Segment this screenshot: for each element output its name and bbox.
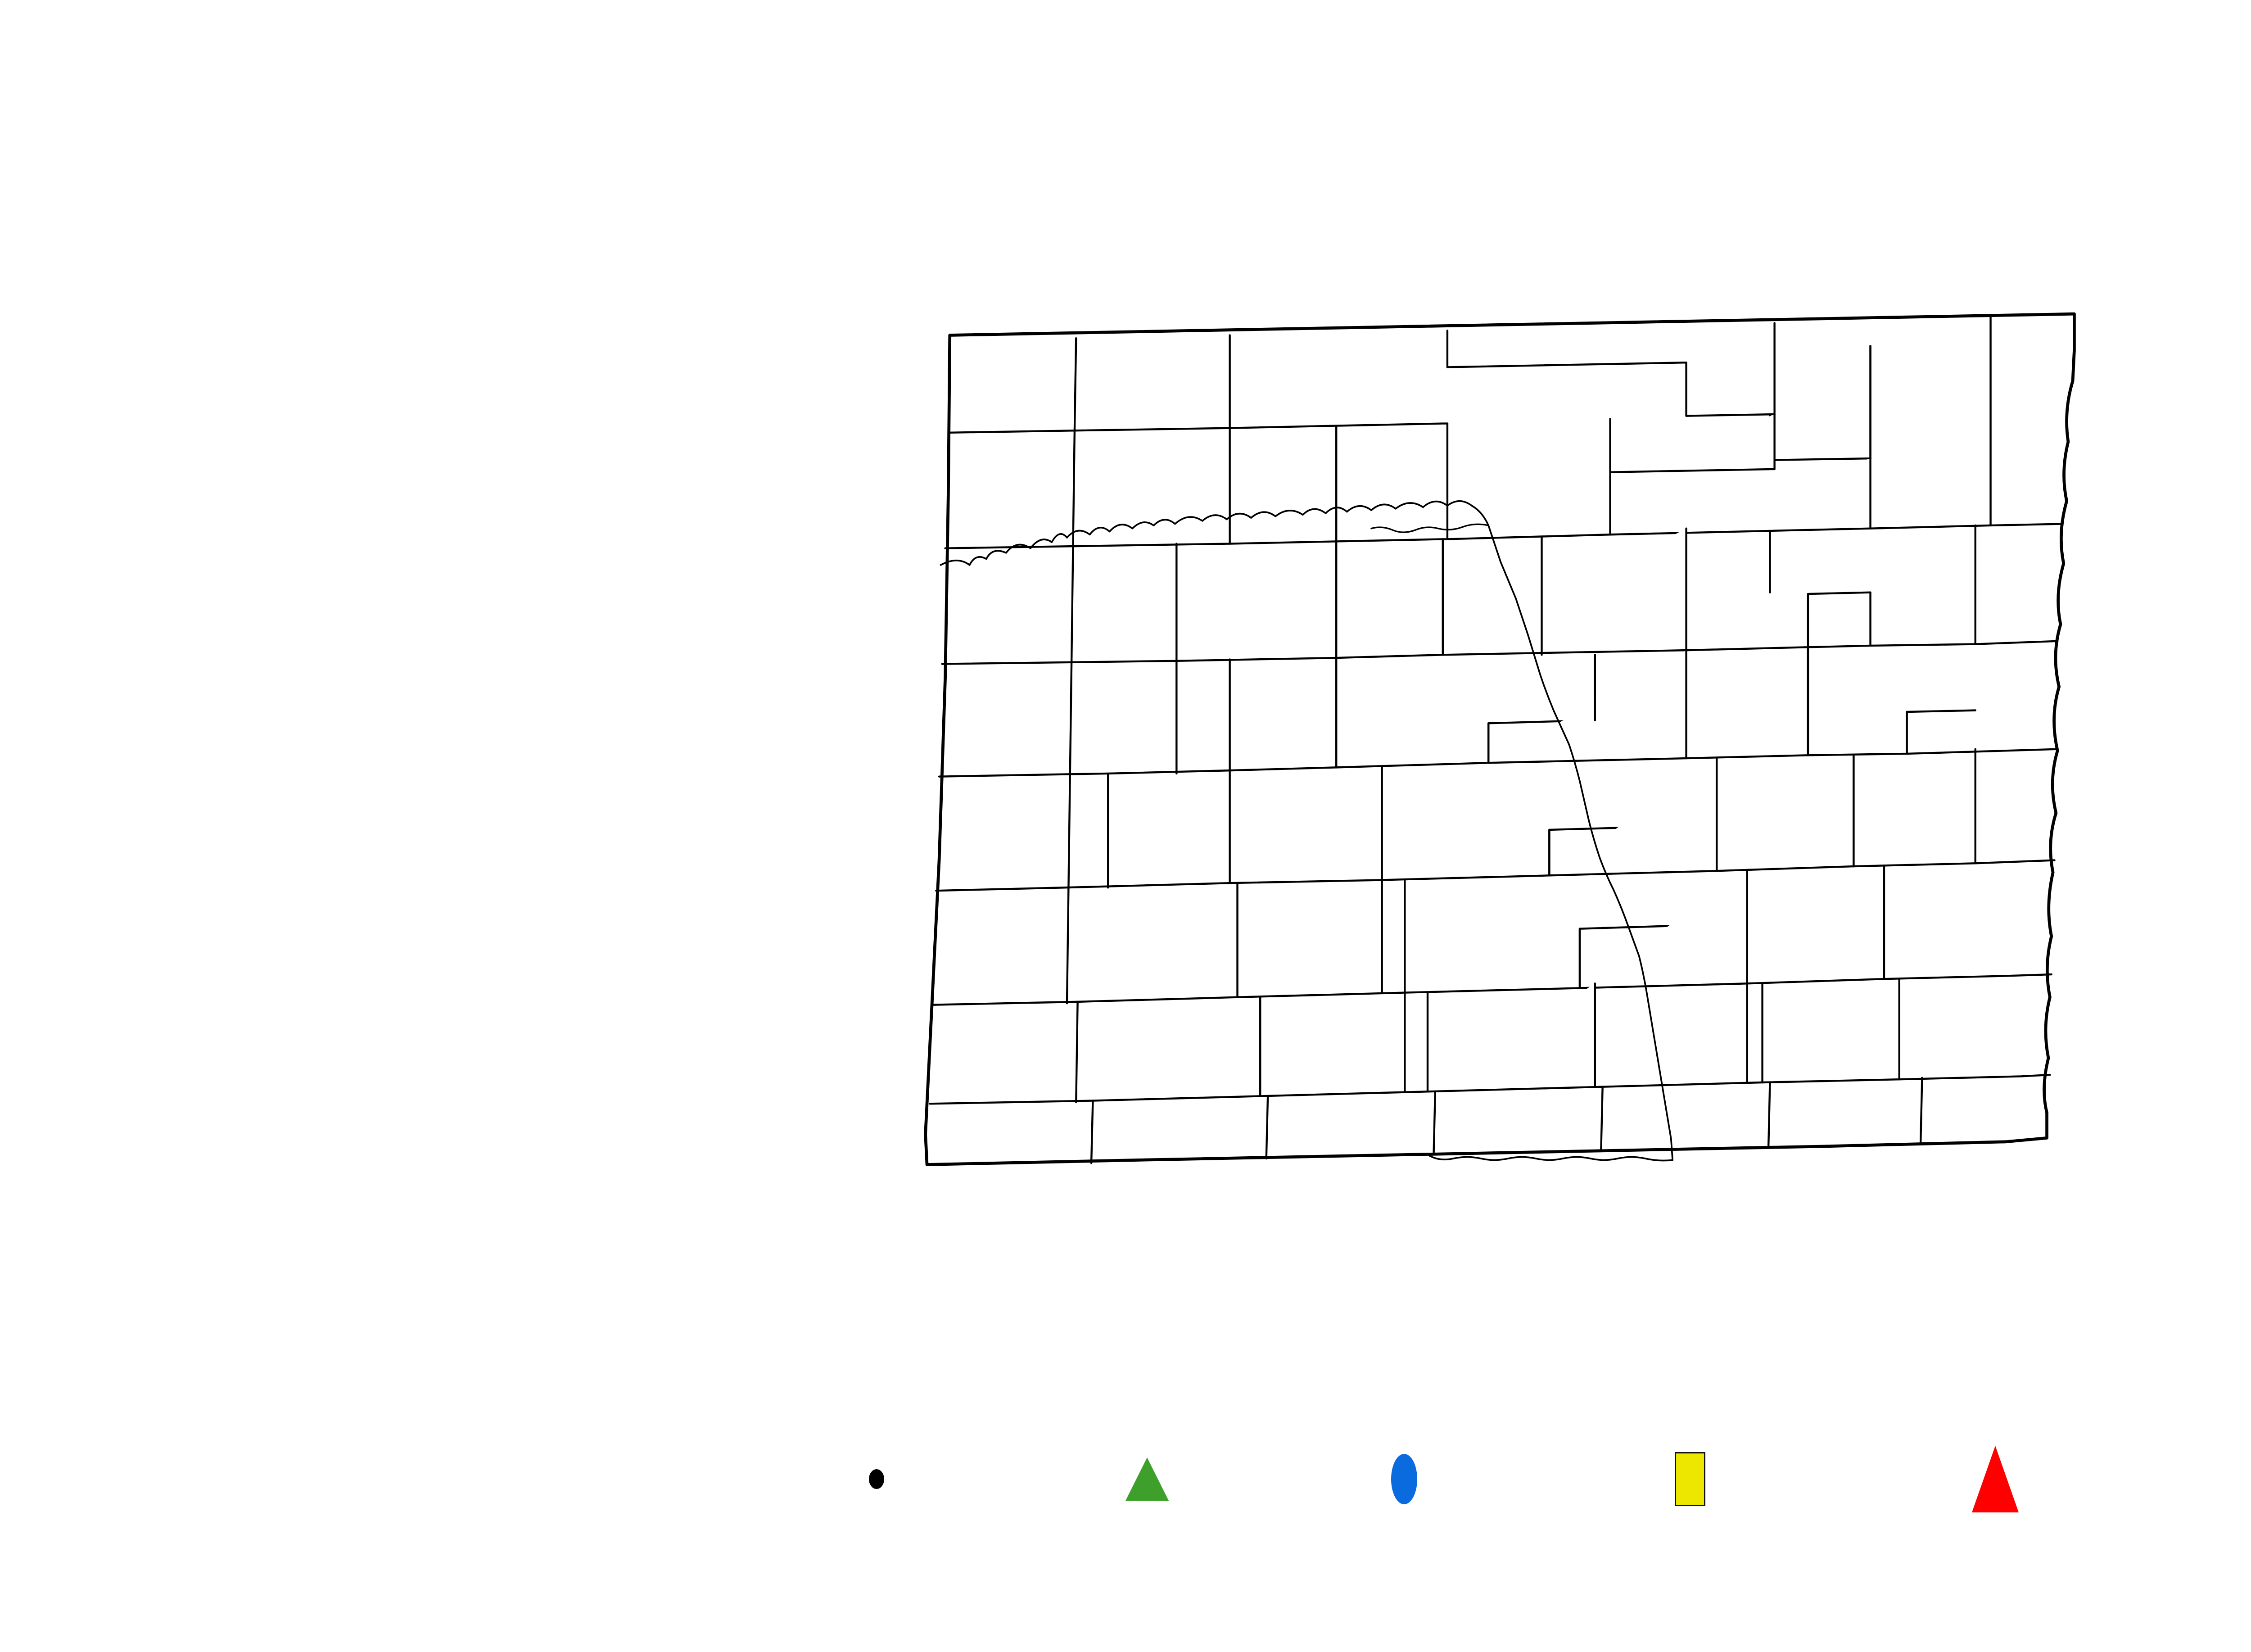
- legend-square-yellow-icon: [1675, 1452, 1705, 1506]
- county-boundaries: [926, 314, 2075, 1164]
- legend-triangle-green-icon: [1125, 1457, 1169, 1501]
- legend-item-2: [1391, 1441, 1431, 1517]
- legend-item-4: [1972, 1441, 2032, 1517]
- legend-item-1: [1125, 1441, 1182, 1517]
- legend-item-0: [869, 1441, 898, 1517]
- legend-circle-blue-icon: [1391, 1454, 1417, 1504]
- legend-item-3: [1675, 1441, 1719, 1517]
- north-dakota-survey-map: [702, 297, 2251, 1279]
- map-svg: [702, 297, 2251, 1279]
- poster-canvas: [0, 0, 2251, 1652]
- legend-triangle-red-icon: [1972, 1446, 2019, 1512]
- legend-dot-icon: [869, 1469, 884, 1489]
- missouri-river-south: [1429, 1155, 1672, 1160]
- legend: [869, 1441, 2219, 1517]
